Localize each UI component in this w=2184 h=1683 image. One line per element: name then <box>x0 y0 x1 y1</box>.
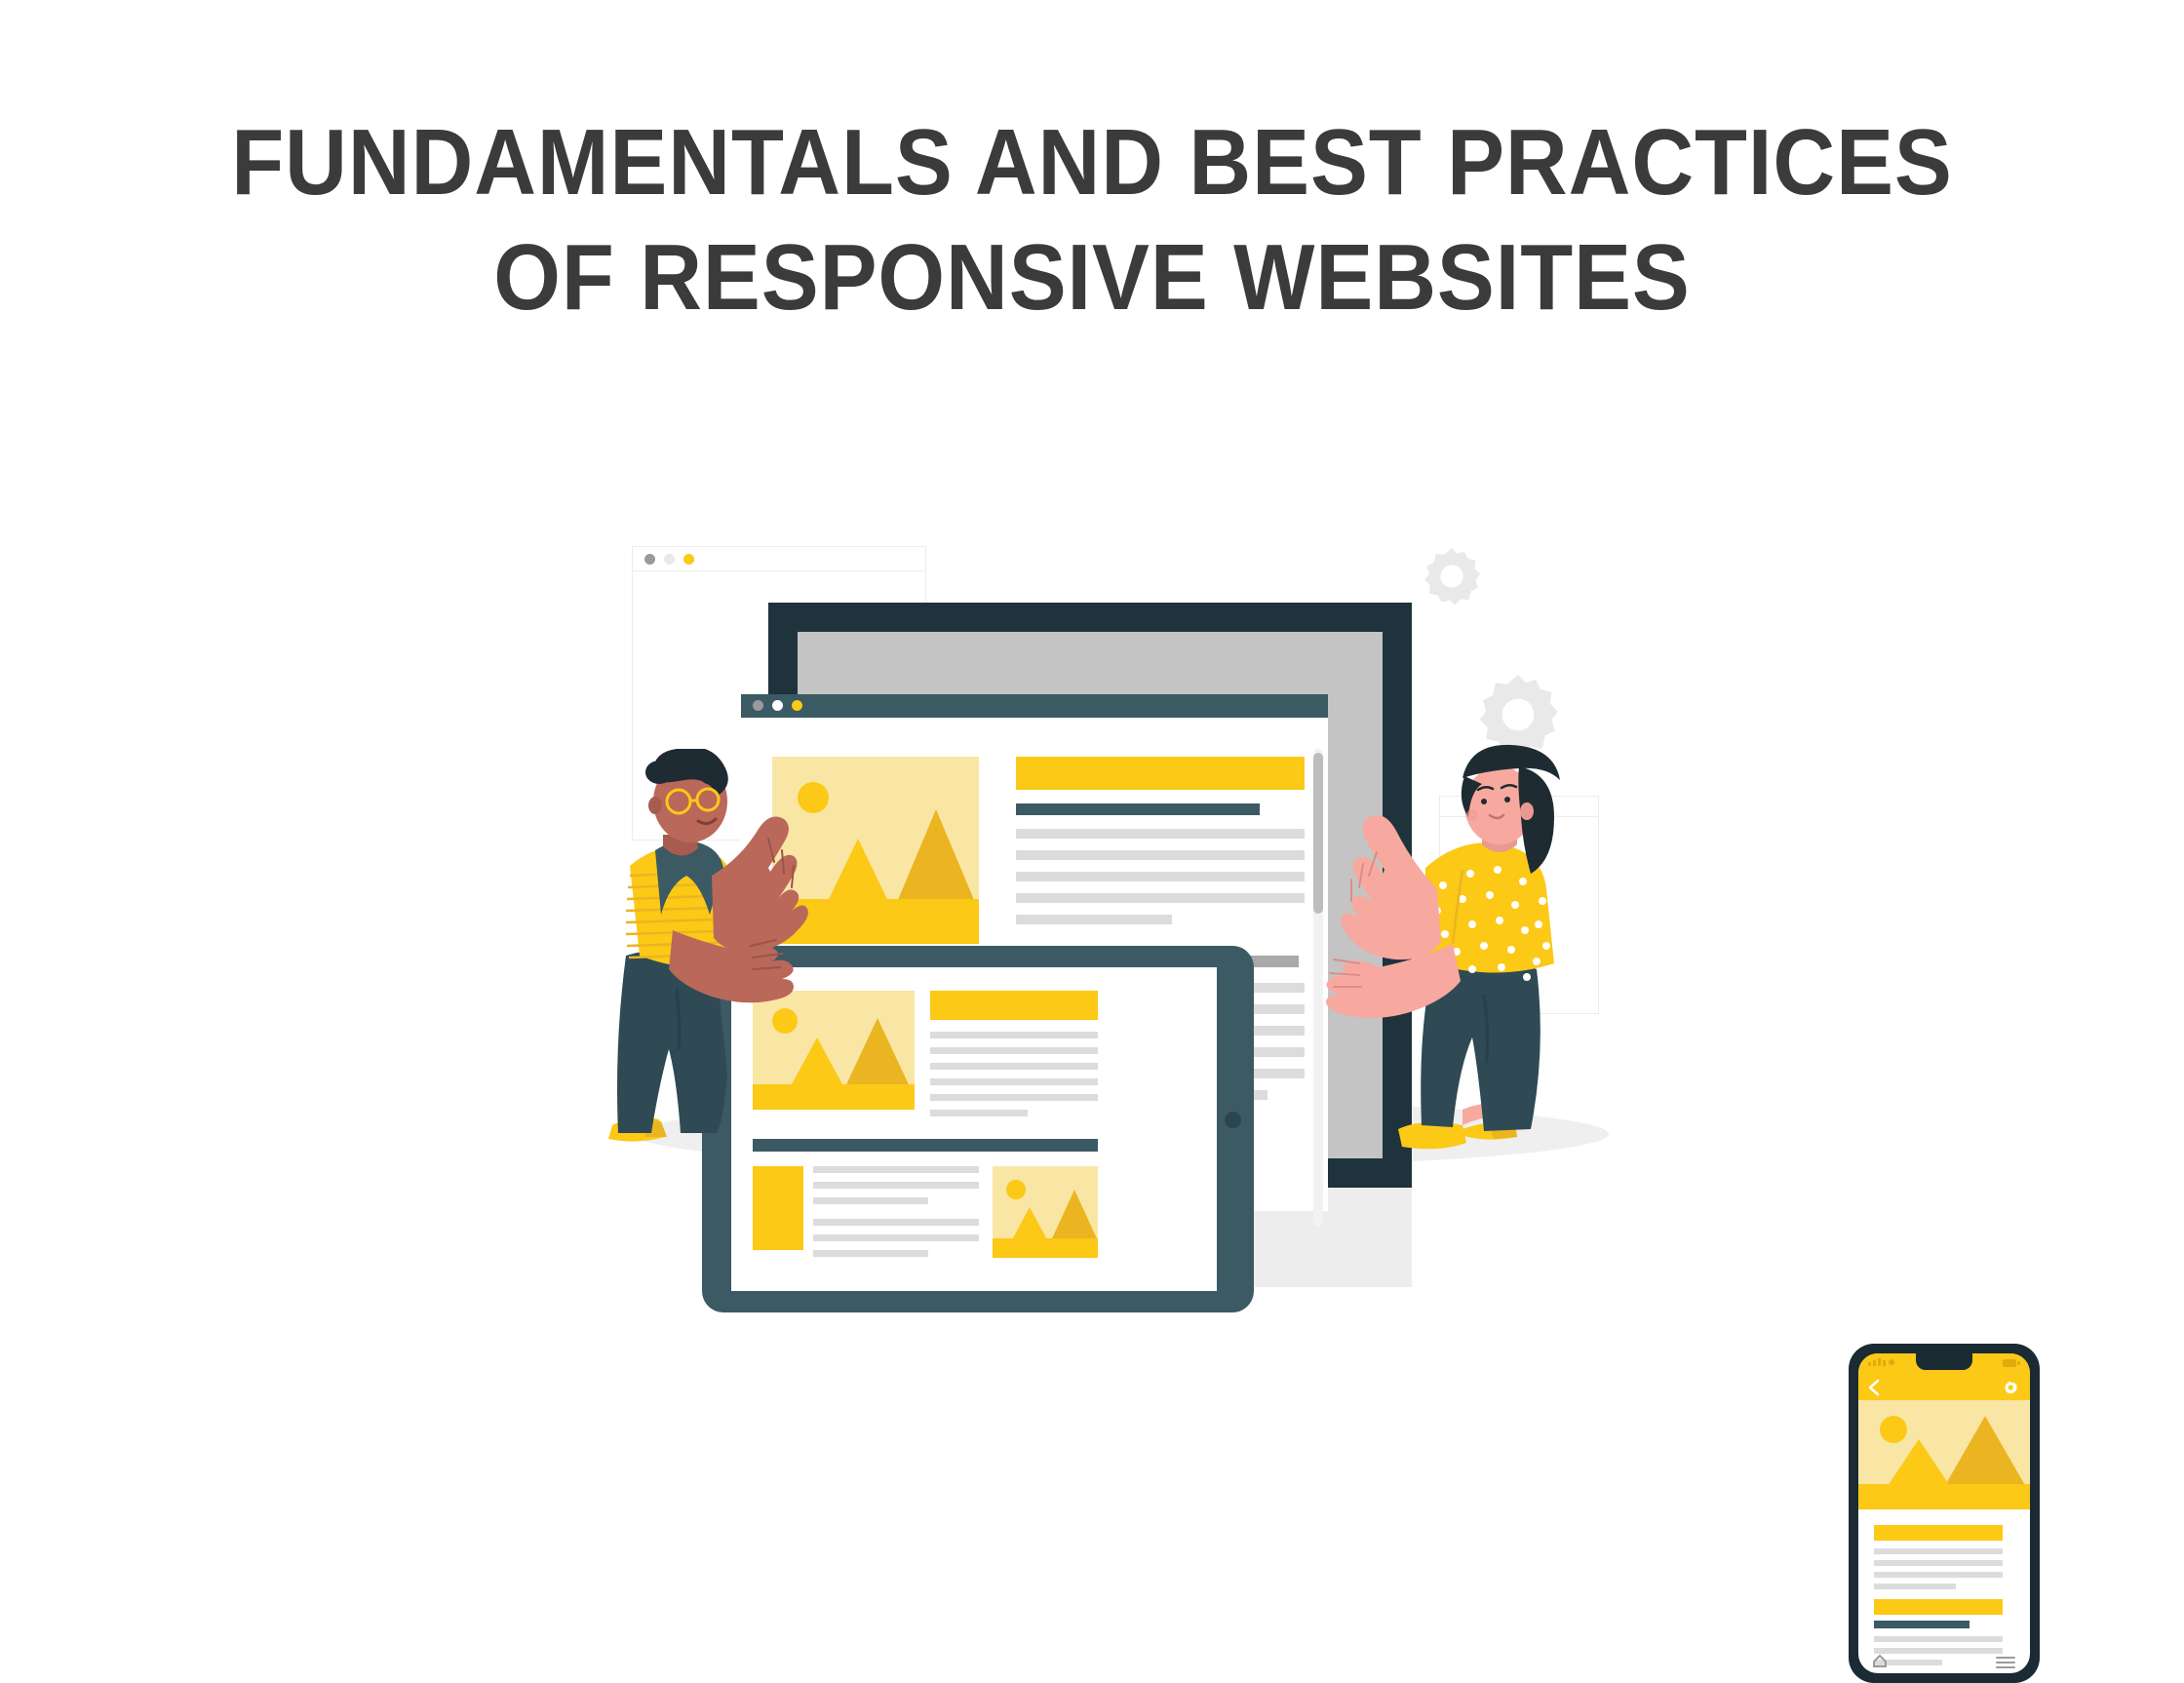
browser-dot-white[interactable] <box>772 700 783 711</box>
sun-shape <box>1006 1180 1026 1199</box>
title-line-1: FUNDAMENTALS AND BEST PRACTICES <box>88 105 2097 220</box>
browser-titlebar[interactable] <box>741 694 1328 718</box>
window-dot-yellow <box>683 554 694 565</box>
right-subtitle-bar <box>1016 803 1260 815</box>
tablet-lower-line-5 <box>813 1234 979 1241</box>
phone-heading-bar-1 <box>1874 1525 2003 1541</box>
paragraph-line-4 <box>1016 893 1305 903</box>
phone-hero-image <box>1858 1400 2030 1509</box>
phone-heading-bar-2 <box>1874 1599 2003 1615</box>
person-right-pushing <box>1316 743 1589 1162</box>
tablet-heading-bar <box>930 991 1098 1020</box>
phone-line-1 <box>1874 1548 2003 1554</box>
tablet-lower-line-1 <box>813 1166 979 1173</box>
paragraph-line-3 <box>1016 872 1305 881</box>
tablet-line-3 <box>930 1063 1098 1070</box>
chevron-left-icon <box>1870 1381 1878 1394</box>
tablet-lower-line-3 <box>813 1197 928 1204</box>
person-left-pushing <box>604 749 829 1158</box>
slide-canvas: FUNDAMENTALS AND BEST PRACTICES OF RESPO… <box>0 0 2184 1229</box>
tablet-line-1 <box>930 1032 1098 1038</box>
right-title-bar <box>1016 757 1305 790</box>
image-ground <box>993 1238 1098 1258</box>
window-dot-gray <box>644 554 655 565</box>
browser-dot-yellow[interactable] <box>792 700 802 711</box>
paragraph-line-5 <box>1016 915 1172 924</box>
paragraph-line-1 <box>1016 829 1305 839</box>
phone-nav-bar <box>1858 1375 2030 1400</box>
phone-line-4 <box>1874 1584 1956 1589</box>
phone-subtitle-bar <box>1874 1621 1969 1628</box>
gear-icon <box>2005 1382 2017 1394</box>
phone-notch <box>1916 1353 1972 1370</box>
paragraph-line-2 <box>1016 850 1305 860</box>
smartphone-screen <box>1858 1353 2030 1673</box>
tablet-line-2 <box>930 1047 1098 1054</box>
browser-dot-gray[interactable] <box>753 700 763 711</box>
phone-line-3 <box>1874 1572 2003 1578</box>
tablet-side-block <box>753 1166 803 1250</box>
page-title: FUNDAMENTALS AND BEST PRACTICES OF RESPO… <box>0 105 2184 335</box>
tablet-line-4 <box>930 1078 1098 1085</box>
background-browser-titlebar <box>633 547 925 571</box>
window-dot-light <box>664 554 675 565</box>
home-icon <box>1874 1656 1886 1666</box>
responsive-devices-illustration <box>604 527 1638 1190</box>
title-line-2: OF RESPONSIVE WEBSITES <box>88 220 2097 335</box>
tablet-line-5 <box>930 1094 1098 1101</box>
tablet-lower-line-4 <box>813 1219 979 1226</box>
hamburger-menu-icon <box>1997 1658 2014 1667</box>
tablet-camera <box>1225 1112 1241 1128</box>
tablet-line-6 <box>930 1110 1028 1116</box>
gear-icon-small <box>1423 548 1480 605</box>
tablet-lower-line-2 <box>813 1182 979 1189</box>
tablet-lower-line-6 <box>813 1250 928 1257</box>
image-ground <box>1858 1484 2030 1509</box>
tablet-lower-image <box>993 1166 1098 1258</box>
phone-line-2 <box>1874 1560 2003 1566</box>
